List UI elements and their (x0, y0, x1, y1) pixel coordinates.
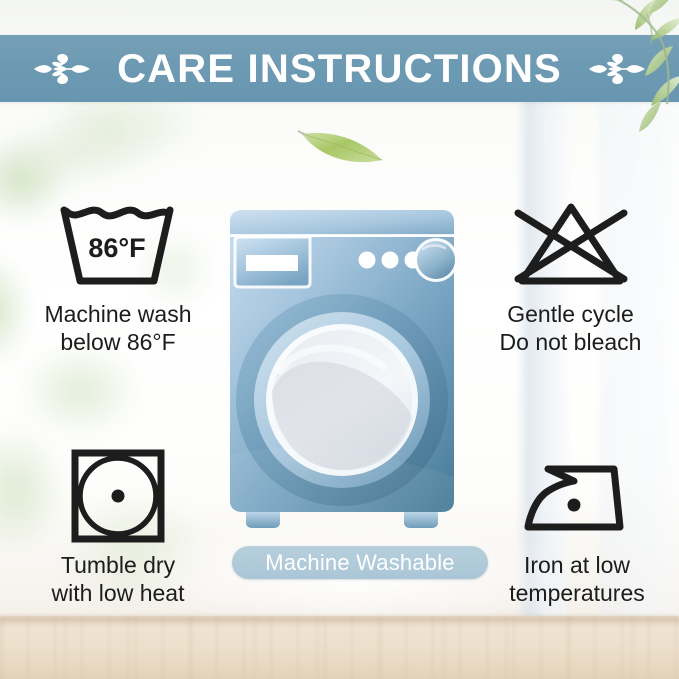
wash-temperature-value: 86°F (88, 233, 145, 263)
care-icon-tumble-dry: Tumble dry with low heat (18, 447, 218, 607)
tumble-dry-icon-wrap (18, 447, 218, 545)
badge-label: Machine Washable (265, 552, 454, 574)
washer-top-lid (230, 210, 454, 235)
drawer-slot (246, 255, 298, 271)
control-indicator-lights (359, 252, 422, 269)
washer-foot-left (246, 512, 280, 528)
iron-icon-wrap (478, 447, 676, 545)
header-banner: CARE INSTRUCTIONS (0, 35, 679, 102)
fleur-de-lis-icon-right (588, 49, 646, 89)
tumble-dry-icon (69, 447, 167, 545)
floating-leaf-icon (296, 122, 388, 168)
care-icon-caption: Machine wash below 86°F (18, 300, 218, 356)
iron-icon (518, 453, 636, 539)
wash-tub-icon-wrap: 86°F (18, 196, 218, 294)
washing-machine-illustration (224, 205, 460, 535)
triangle-crossed-icon-wrap (468, 196, 673, 294)
triangle-crossed-icon (506, 199, 636, 291)
care-icon-machine-wash: 86°F Machine wash below 86°F (18, 196, 218, 356)
care-icon-iron: Iron at low temperatures (478, 447, 676, 607)
background-table-edge (0, 616, 679, 624)
machine-washable-badge: Machine Washable (232, 546, 488, 579)
detergent-drawer (235, 237, 310, 287)
wash-tub-icon: 86°F (56, 201, 180, 289)
care-icon-gentle-cycle-no-bleach: Gentle cycle Do not bleach (468, 196, 673, 356)
page-title: CARE INSTRUCTIONS (117, 49, 562, 89)
care-icon-caption: Gentle cycle Do not bleach (468, 300, 673, 356)
washer-foot-right (404, 512, 438, 528)
background-table-surface (0, 616, 679, 679)
care-icon-caption: Tumble dry with low heat (18, 551, 218, 607)
fleur-de-lis-icon-left (33, 49, 91, 89)
care-instructions-infographic: CARE INSTRUCTIONS (0, 0, 679, 679)
program-selector-knob (414, 238, 458, 282)
care-icon-caption: Iron at low temperatures (478, 551, 676, 607)
